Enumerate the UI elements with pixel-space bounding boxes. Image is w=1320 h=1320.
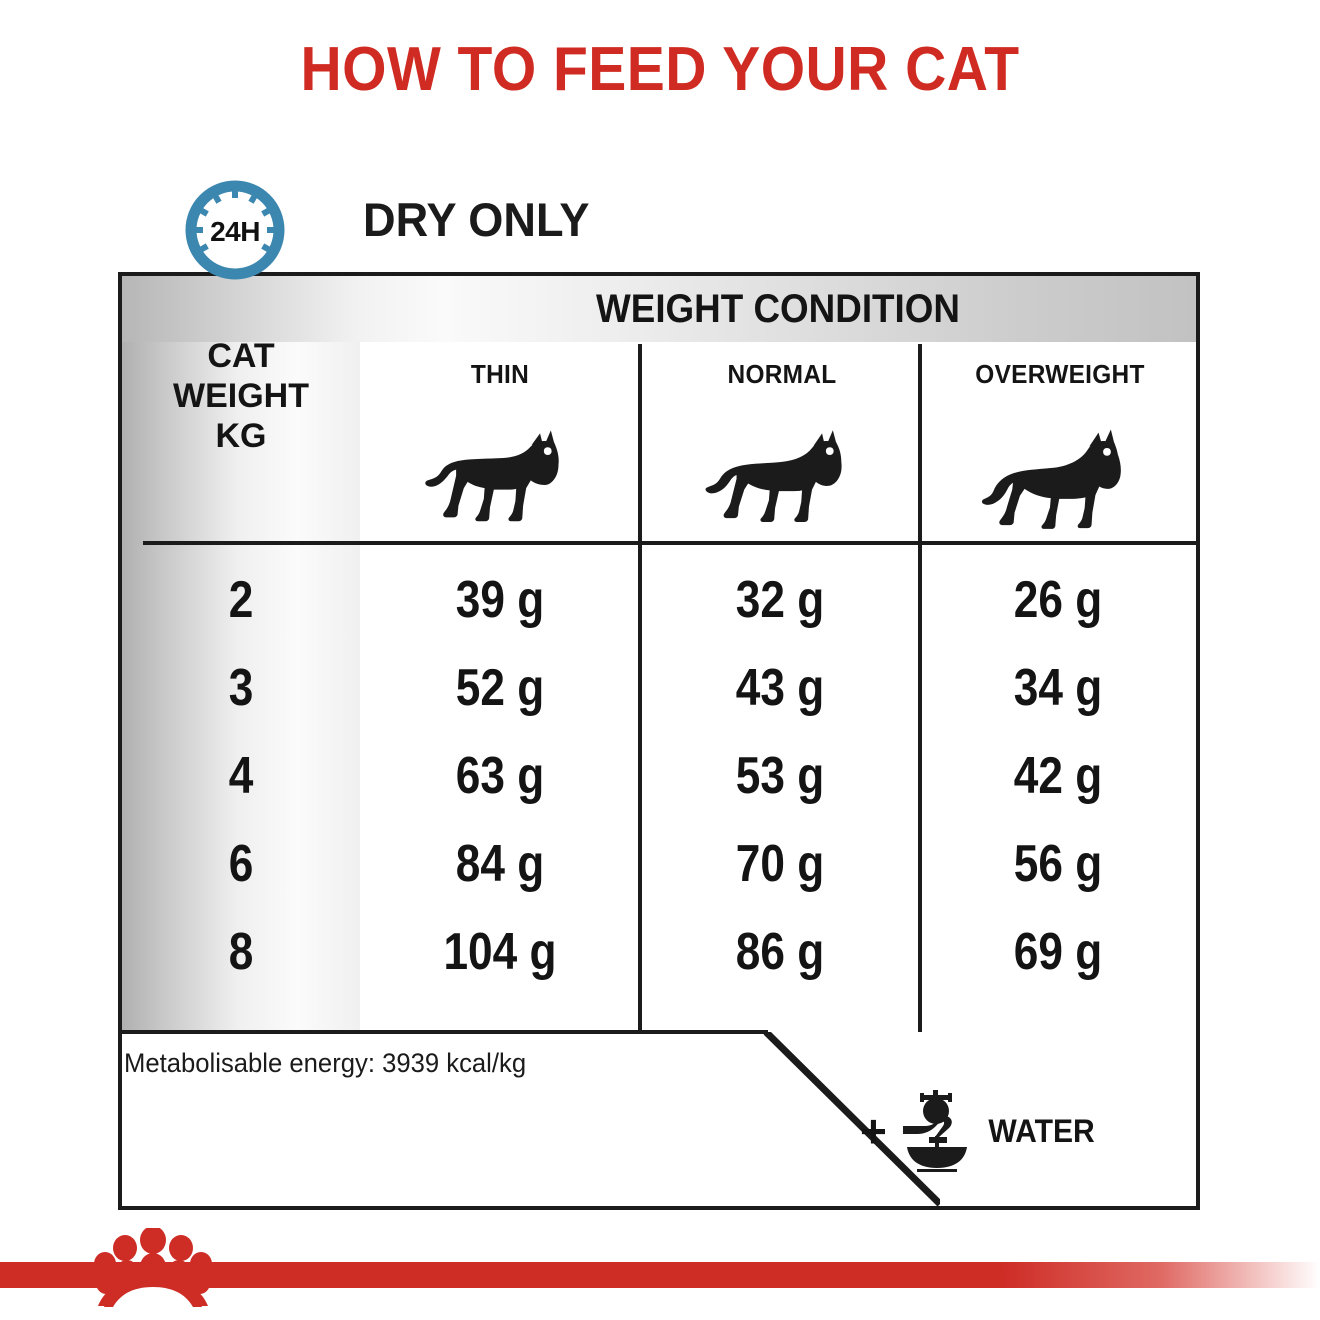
- cell-weight: 6: [140, 834, 342, 894]
- table-row: 2 39 g 32 g 26 g: [122, 556, 1196, 644]
- header-body-rule: [143, 541, 1196, 545]
- cell-thin: 52 g: [381, 658, 619, 718]
- feeding-table-body: 2 39 g 32 g 26 g 3 52 g 43 g 34 g 4 63 g…: [122, 556, 1196, 996]
- page-title: HOW TO FEED YOUR CAT: [53, 34, 1267, 105]
- cell-weight: 3: [140, 658, 342, 718]
- cell-weight: 2: [140, 570, 342, 630]
- table-row: 8 104 g 86 g 69 g: [122, 908, 1196, 996]
- cell-overweight: 34 g: [941, 658, 1176, 718]
- cell-thin: 104 g: [381, 922, 619, 982]
- normal-cat-icon-cell: [644, 420, 920, 540]
- faucet-bowl-icon-wrap: [893, 1090, 971, 1172]
- thin-cat-icon: [423, 428, 577, 532]
- faucet-bowl-icon: [893, 1090, 971, 1172]
- cat-weight-header-line3: KG: [216, 416, 267, 456]
- overweight-cat-icon: [976, 428, 1144, 532]
- column-header-normal: NORMAL: [652, 357, 911, 391]
- table-row: 4 63 g 53 g 42 g: [122, 732, 1196, 820]
- table-row: 3 52 g 43 g 34 g: [122, 644, 1196, 732]
- cell-overweight: 56 g: [941, 834, 1176, 894]
- plus-sign: +: [860, 1108, 887, 1154]
- normal-cat-icon: [702, 428, 862, 532]
- cell-thin: 84 g: [381, 834, 619, 894]
- weight-condition-title: WEIGHT CONDITION: [393, 283, 1162, 335]
- cell-normal: 53 g: [661, 746, 899, 806]
- cell-thin: 63 g: [381, 746, 619, 806]
- cell-weight: 8: [140, 922, 342, 982]
- water-label: WATER: [988, 1113, 1094, 1150]
- column-header-overweight: OVERWEIGHT: [932, 357, 1188, 391]
- thin-cat-icon-cell: [360, 420, 640, 540]
- cell-overweight: 69 g: [941, 922, 1176, 982]
- cat-weight-header: CAT WEIGHT KG: [122, 336, 360, 446]
- overweight-cat-icon-cell: [924, 420, 1196, 540]
- metabolisable-energy-note: Metabolisable energy: 3939 kcal/kg: [124, 1048, 526, 1079]
- cell-normal: 86 g: [661, 922, 899, 982]
- table-body-bottom-border: [118, 1030, 768, 1034]
- badge-24h-label: 24H: [181, 176, 289, 284]
- cell-normal: 43 g: [661, 658, 899, 718]
- cat-weight-header-line2: WEIGHT: [173, 376, 309, 416]
- column-header-thin: THIN: [368, 357, 631, 391]
- cell-overweight: 26 g: [941, 570, 1176, 630]
- cell-weight: 4: [140, 746, 342, 806]
- water-callout: + WATER: [860, 1086, 1130, 1176]
- table-row: 6 84 g 70 g 56 g: [122, 820, 1196, 908]
- section-heading: DRY ONLY: [363, 192, 590, 247]
- cell-normal: 32 g: [661, 570, 899, 630]
- cell-normal: 70 g: [661, 834, 899, 894]
- cell-thin: 39 g: [381, 570, 619, 630]
- royal-canin-logo: [92, 1228, 214, 1308]
- cell-overweight: 42 g: [941, 746, 1176, 806]
- royal-canin-crown-icon: [92, 1228, 214, 1308]
- cat-weight-header-line1: CAT: [207, 336, 274, 376]
- badge-24h: 24H: [181, 176, 289, 284]
